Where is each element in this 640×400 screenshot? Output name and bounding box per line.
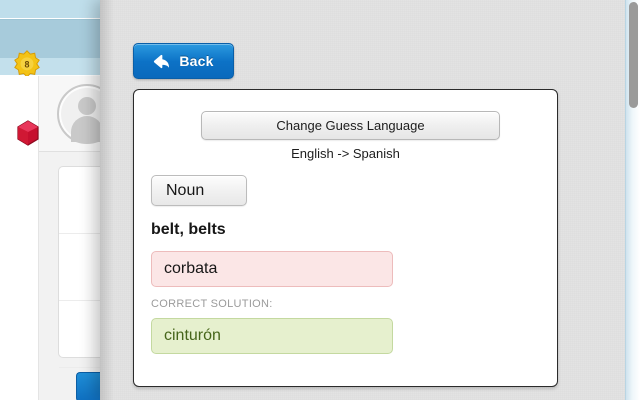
part-of-speech-chip[interactable]: Noun [151,175,247,206]
quiz-result-card: Change Guess Language English -> Spanish… [133,89,558,387]
user-answer-input[interactable]: corbata [151,251,393,287]
change-guess-language-button[interactable]: Change Guess Language [201,111,500,140]
language-direction-label: English -> Spanish [134,146,557,161]
vertical-scrollbar-track[interactable] [625,0,640,400]
back-arrow-icon [153,54,170,69]
overlay-panel: Back Change Guess Language English -> Sp… [100,0,640,400]
overlay-left-shadow [100,0,114,400]
avatar-body-shape [71,116,103,142]
correct-solution-label: CORRECT SOLUTION: [151,298,273,310]
ruby-gem-icon [16,120,40,146]
star-badge-count: 8 [25,59,30,69]
avatar-head-shape [78,97,96,115]
back-button-label: Back [179,53,213,69]
back-button[interactable]: Back [133,43,234,79]
prompt-word: belt, belts [151,221,226,239]
vertical-scrollbar-thumb[interactable] [629,2,638,108]
star-badge-icon: 8 [14,50,40,76]
correct-answer-input[interactable]: cinturón [151,318,393,354]
